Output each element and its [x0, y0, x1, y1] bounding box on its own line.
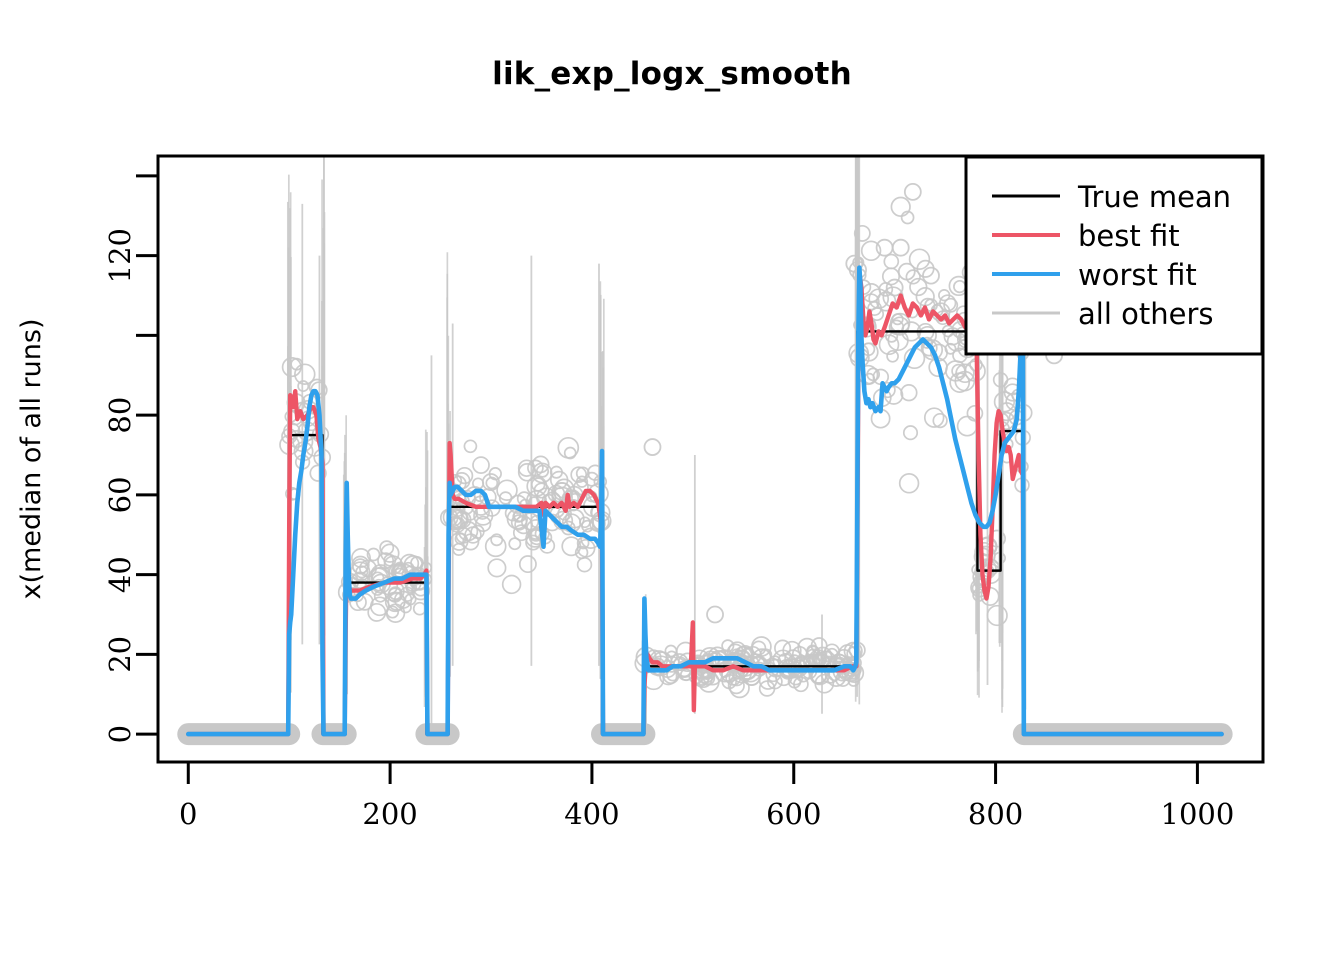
x-tick-label: 800 — [968, 797, 1023, 831]
x-tick-label: 200 — [362, 797, 417, 831]
y-tick-label: 40 — [103, 556, 137, 593]
plot-area: 02004006008001000 020406080120 x(median … — [0, 0, 1344, 960]
legend-label: best fit — [1078, 219, 1180, 253]
y-tick-label: 80 — [103, 397, 137, 434]
legend-label: True mean — [1077, 180, 1231, 214]
chart-figure: lik_exp_logx_smooth 02004006008001000 02… — [0, 0, 1344, 960]
x-tick-label: 600 — [766, 797, 821, 831]
y-axis-title: x(median of all runs) — [16, 319, 47, 600]
x-tick-label: 400 — [564, 797, 619, 831]
legend-label: worst fit — [1078, 258, 1197, 292]
legend-label: all others — [1078, 297, 1213, 331]
legend[interactable]: True meanbest fitworst fitall others — [966, 157, 1262, 354]
y-axis-ticks: 020406080120 — [103, 176, 158, 743]
y-tick-label: 120 — [103, 228, 137, 283]
x-axis-ticks: 02004006008001000 — [179, 762, 1234, 831]
x-tick-label: 0 — [179, 797, 197, 831]
y-tick-label: 20 — [103, 636, 137, 673]
y-tick-label: 0 — [103, 725, 137, 743]
y-tick-label: 60 — [103, 476, 137, 513]
x-tick-label: 1000 — [1161, 797, 1235, 831]
